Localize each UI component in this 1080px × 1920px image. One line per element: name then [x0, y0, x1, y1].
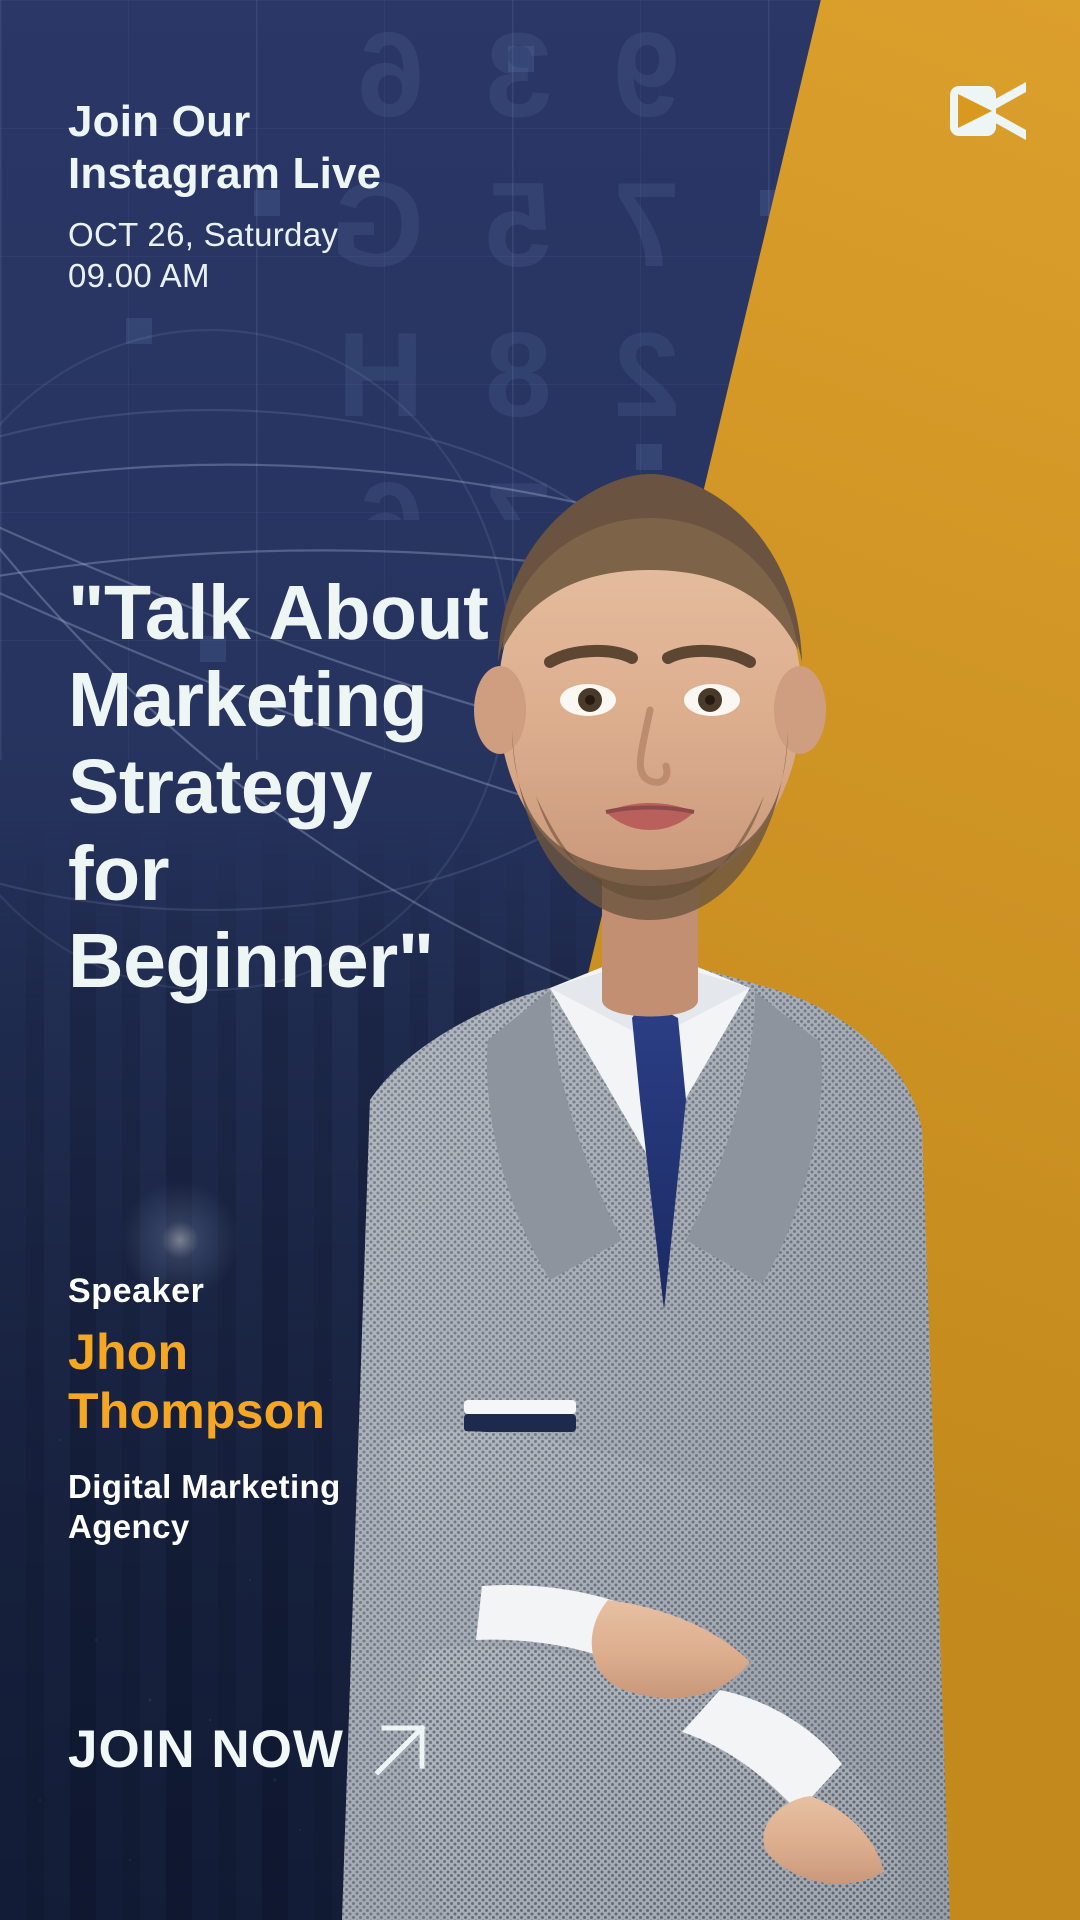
headline-line-2: Marketing — [68, 657, 628, 744]
headline-line-4: for — [68, 831, 628, 918]
speaker-role-line1: Digital Marketing — [68, 1467, 518, 1507]
headline-line-1: "Talk About — [68, 570, 628, 657]
header-title-line2: Instagram Live — [68, 148, 628, 200]
join-now-button[interactable]: JOIN NOW — [68, 1718, 432, 1780]
header-text-block: Join Our Instagram Live OCT 26, Saturday… — [68, 96, 628, 297]
speaker-name-line1: Jhon — [68, 1323, 518, 1382]
join-now-label: JOIN NOW — [68, 1719, 344, 1780]
poster-canvas: 9 3 6 7 5 G 2 8 H 6 7 6 — [0, 0, 1080, 1920]
page-title: "Talk About Marketing Strategy for Begin… — [68, 570, 628, 1005]
header-title-line1: Join Our — [68, 96, 628, 148]
speaker-label: Speaker — [68, 1272, 518, 1311]
speaker-role-line2: Agency — [68, 1507, 518, 1547]
headline-line-5: Beginner" — [68, 918, 628, 1005]
event-date: OCT 26, Saturday — [68, 214, 628, 256]
capcut-logo-icon — [946, 78, 1030, 144]
event-time: 09.00 AM — [68, 255, 628, 297]
speaker-info-block: Speaker Jhon Thompson Digital Marketing … — [68, 1272, 518, 1546]
grid-node — [508, 46, 534, 72]
speaker-name-line2: Thompson — [68, 1382, 518, 1441]
arrow-up-right-icon[interactable] — [370, 1718, 432, 1780]
headline-line-3: Strategy — [68, 744, 628, 831]
